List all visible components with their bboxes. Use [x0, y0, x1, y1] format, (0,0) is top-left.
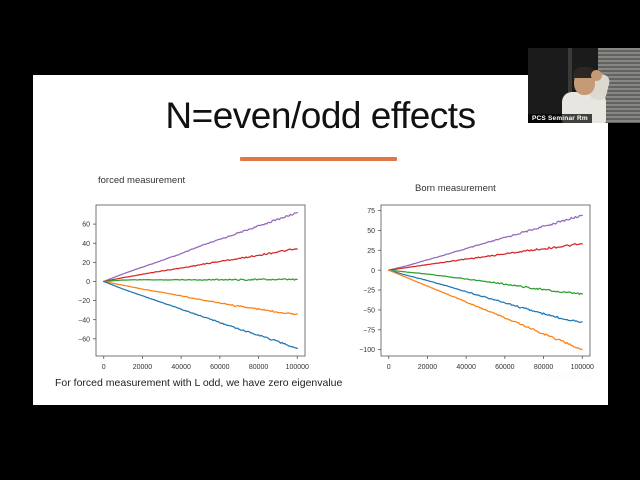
svg-text:60: 60 [82, 222, 90, 229]
presentation-slide: N=even/odd effects forced measurement 02… [33, 75, 608, 405]
svg-text:60000: 60000 [495, 364, 515, 371]
svg-text:−40: −40 [78, 317, 90, 324]
svg-text:−100: −100 [359, 347, 375, 354]
svg-text:50: 50 [367, 228, 375, 235]
chart-title-forced: forced measurement [98, 175, 185, 186]
svg-text:−50: −50 [363, 308, 375, 315]
watermark-text: Seminar [543, 367, 598, 382]
slide-caption: For forced measurement with L odd, we ha… [55, 377, 342, 389]
svg-text:−75: −75 [363, 327, 375, 334]
participant-hand [591, 70, 602, 81]
svg-text:0: 0 [387, 364, 391, 371]
svg-text:0: 0 [371, 268, 375, 275]
svg-text:0: 0 [86, 279, 90, 286]
svg-text:80000: 80000 [249, 364, 269, 371]
svg-text:75: 75 [367, 208, 375, 215]
webcam-pip-tile[interactable]: PCS Seminar Rm [528, 48, 640, 123]
chart-forced-measurement: 020000400006000080000100000−60−40−200204… [58, 197, 313, 382]
svg-text:−25: −25 [363, 288, 375, 295]
svg-text:40: 40 [82, 241, 90, 248]
svg-text:60000: 60000 [210, 364, 230, 371]
svg-text:40000: 40000 [171, 364, 191, 371]
webcam-participant-name-label: PCS Seminar Rm [528, 114, 592, 123]
chart-title-born: Born measurement [415, 183, 496, 194]
svg-text:0: 0 [102, 364, 106, 371]
svg-text:20000: 20000 [418, 364, 438, 371]
svg-text:−20: −20 [78, 298, 90, 305]
svg-text:−60: −60 [78, 336, 90, 343]
svg-text:20000: 20000 [133, 364, 153, 371]
page-title: N=even/odd effects [33, 95, 608, 137]
chart-born-measurement: 020000400006000080000100000−100−75−50−25… [343, 197, 598, 382]
title-underline-rule [240, 157, 397, 161]
svg-text:40000: 40000 [456, 364, 476, 371]
svg-text:25: 25 [367, 248, 375, 255]
screen-recording-frame: N=even/odd effects forced measurement 02… [0, 0, 640, 480]
svg-text:20: 20 [82, 260, 90, 267]
svg-text:100000: 100000 [286, 364, 309, 371]
